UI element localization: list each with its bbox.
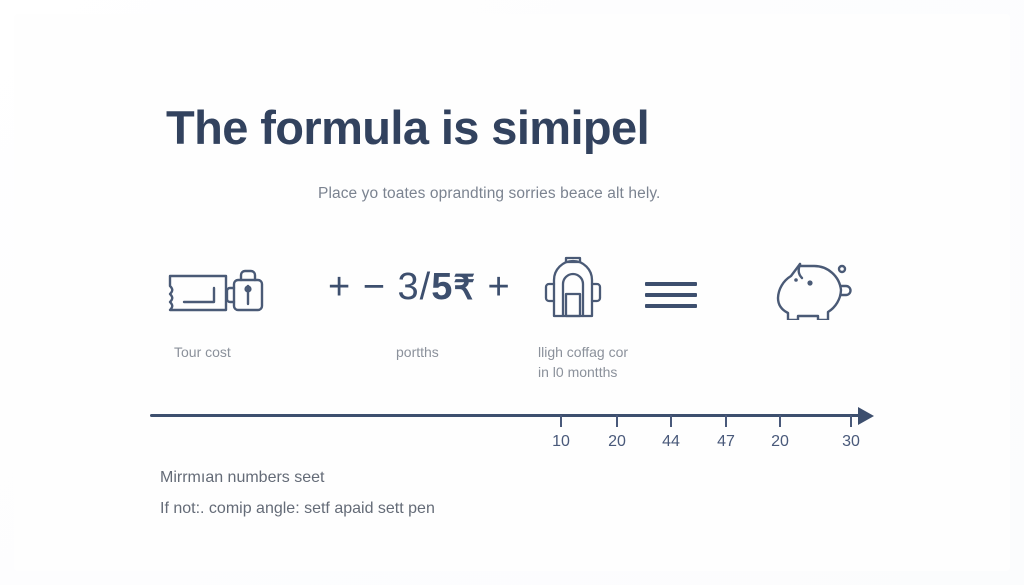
fraction-bold-value: 5 bbox=[431, 266, 453, 308]
currency-symbol: ₹ bbox=[453, 269, 476, 307]
axis-tick bbox=[779, 415, 781, 427]
operator-plus: + bbox=[488, 266, 511, 308]
formula-row: Tour cost + − 3/5₹ + portths lligh coffa… bbox=[150, 250, 890, 385]
ticket-luggage-icon bbox=[164, 260, 268, 322]
equals-bar-1 bbox=[645, 282, 697, 286]
equals-bar-2 bbox=[645, 293, 697, 297]
formula-item-tour-cost bbox=[164, 260, 268, 322]
axis-tick bbox=[670, 415, 672, 427]
axis-tick-label: 47 bbox=[717, 433, 735, 451]
axis-tick-label: 10 bbox=[552, 433, 570, 451]
axis-tick bbox=[560, 415, 562, 427]
footnote-line-2: If not:. comip angle: setf apaid sett pe… bbox=[160, 493, 435, 524]
formula-label-backpack: lligh coffag cor in l0 montths bbox=[538, 342, 628, 382]
formula-item-savings bbox=[770, 256, 862, 318]
axis-tick bbox=[850, 415, 852, 427]
formula-label-months: portths bbox=[396, 342, 439, 362]
slide-canvas: The formula is simipel Place yo toates o… bbox=[0, 0, 1024, 585]
page-title: The formula is simipel bbox=[166, 100, 649, 155]
fraction-expression: + − 3/5₹ + bbox=[328, 266, 511, 309]
footnote-line-1: Mirrmıan numbers seet bbox=[160, 462, 435, 493]
axis-tick-label: 20 bbox=[608, 433, 626, 451]
backpack-icon bbox=[542, 256, 604, 318]
footnotes: Mirrmıan numbers seet If not:. comip ang… bbox=[160, 462, 435, 524]
page-subtitle: Place yo toates oprandting sorries beace… bbox=[318, 185, 660, 203]
formula-label-backpack-line2: in l0 montths bbox=[538, 362, 628, 382]
formula-item-backpack bbox=[542, 256, 604, 318]
number-line: 102044472030 bbox=[150, 400, 880, 460]
axis-tick-label: 30 bbox=[842, 433, 860, 451]
equals-bar-3 bbox=[645, 304, 697, 308]
axis-line bbox=[150, 414, 868, 417]
fraction-prefix: + − 3/ bbox=[328, 266, 431, 308]
axis-arrow-icon bbox=[858, 407, 874, 425]
axis-tick bbox=[725, 415, 727, 427]
axis-tick bbox=[616, 415, 618, 427]
triple-bar-equals-icon bbox=[645, 282, 697, 308]
axis-tick-label: 20 bbox=[771, 433, 789, 451]
axis-tick-label: 44 bbox=[662, 433, 680, 451]
piggy-bank-icon bbox=[770, 256, 862, 318]
formula-label-tour-cost: Tour cost bbox=[174, 342, 231, 362]
formula-label-backpack-line1: lligh coffag cor bbox=[538, 342, 628, 362]
